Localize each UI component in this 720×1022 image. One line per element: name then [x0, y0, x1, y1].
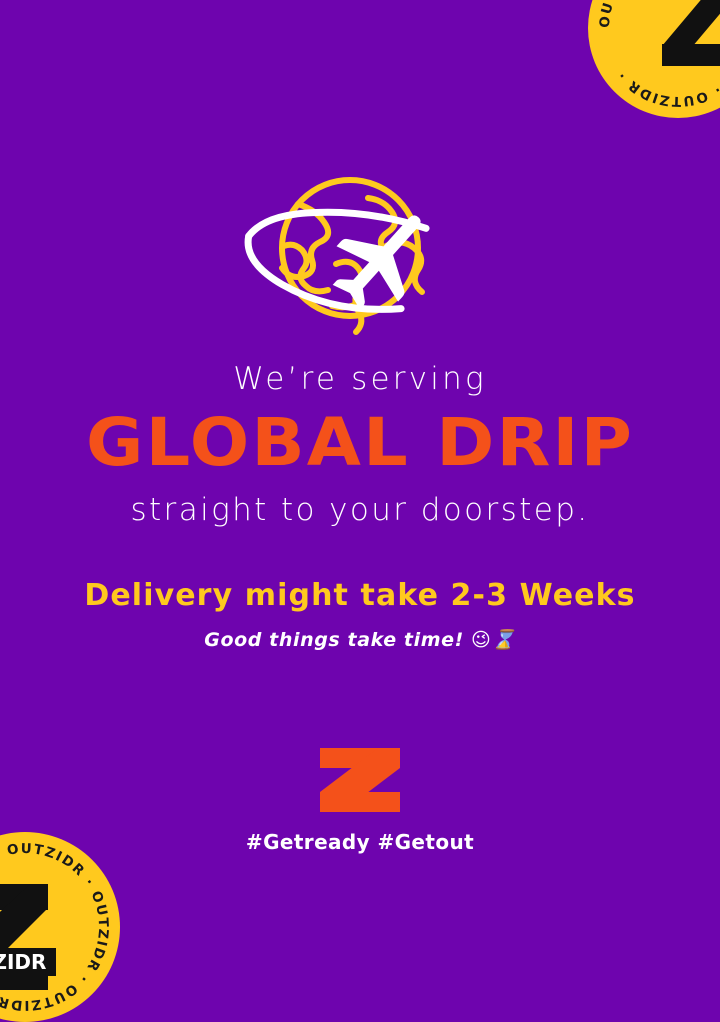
orbit-swoosh-icon [240, 172, 426, 328]
badge-top-right-graphic: OUTZIDR · OUTZIDR · OUTZIDR · OUTZIDR · [588, 0, 720, 118]
hero-illustration [0, 168, 720, 338]
badge-top-right: OUTZIDR · OUTZIDR · OUTZIDR · OUTZIDR · [588, 0, 720, 118]
globe-plane-graphic [240, 168, 480, 338]
footer-block: #Getready #Getout [0, 748, 720, 854]
hashtags-text: #Getready #Getout [246, 830, 474, 854]
badge-bottom-left-graphic: OUTZIDR · OUTZIDR · OUTZIDR · OUTZIDR · … [0, 832, 120, 1022]
tagline-text: Good things take time! 😉⌛ [0, 629, 720, 652]
badge-wordmark-text: OUTZIDR [0, 950, 46, 974]
z-logo-icon [320, 748, 400, 812]
headline-text: GLOBAL DRIP [0, 408, 720, 477]
eyebrow-text: We’re serving [0, 362, 720, 396]
poster-copy: We’re serving GLOBAL DRIP straight to yo… [0, 362, 720, 652]
badge-wordmark: OUTZIDR [0, 948, 56, 976]
z-mark-icon [662, 0, 720, 66]
delivery-estimate-text: Delivery might take 2-3 Weeks [0, 579, 720, 612]
badge-bottom-left: OUTZIDR · OUTZIDR · OUTZIDR · OUTZIDR · … [0, 832, 120, 1022]
subline-text: straight to your doorstep. [0, 493, 720, 527]
